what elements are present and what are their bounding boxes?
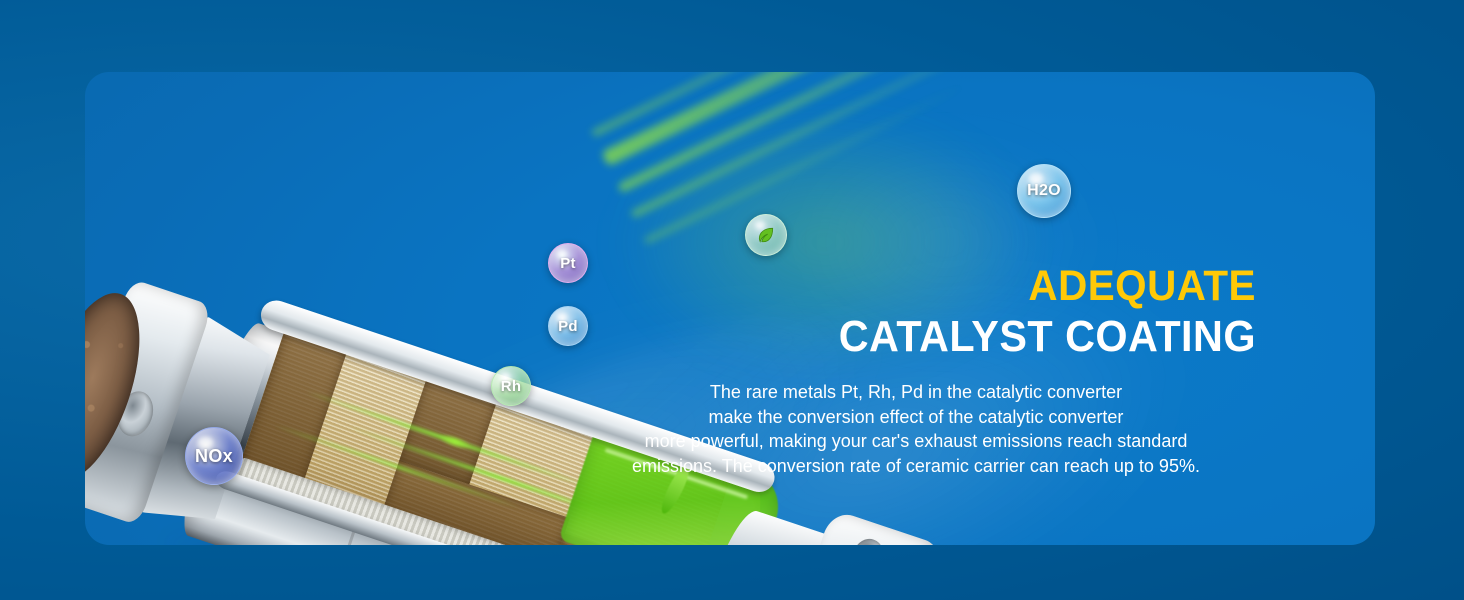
bubble-rh-label: Rh xyxy=(501,378,522,395)
body-line: more powerful, making your car's exhaust… xyxy=(576,429,1256,454)
headline-line-1: ADEQUATE xyxy=(617,262,1256,310)
body-line: emissions. The conversion rate of cerami… xyxy=(576,454,1256,479)
bubble-eco-leaf xyxy=(745,214,787,256)
bubble-h2o-label: H2O xyxy=(1027,182,1061,200)
bubble-pt-label: Pt xyxy=(560,255,576,272)
bubble-pd-label: Pd xyxy=(558,318,578,335)
bubble-h2o: H2O xyxy=(1017,164,1071,218)
bolt-hole xyxy=(849,535,888,545)
copy-block: ADEQUATE CATALYST COATING The rare metal… xyxy=(576,262,1256,478)
bubble-nox-label: NOx xyxy=(195,446,233,467)
headline-line-2: CATALYST COATING xyxy=(617,312,1256,362)
content-card: NOx Pt Pd Rh H2O ADEQUATE CATALYST COATI… xyxy=(85,72,1375,545)
bubble-rh: Rh xyxy=(491,366,531,406)
body-line: make the conversion effect of the cataly… xyxy=(576,405,1256,430)
body-line: The rare metals Pt, Rh, Pd in the cataly… xyxy=(576,380,1256,405)
promo-banner: NOx Pt Pd Rh H2O ADEQUATE CATALYST COATI… xyxy=(0,0,1464,600)
bubble-nox: NOx xyxy=(185,427,243,485)
body-paragraph: The rare metals Pt, Rh, Pd in the cataly… xyxy=(576,380,1256,478)
leaf-icon xyxy=(756,225,776,245)
